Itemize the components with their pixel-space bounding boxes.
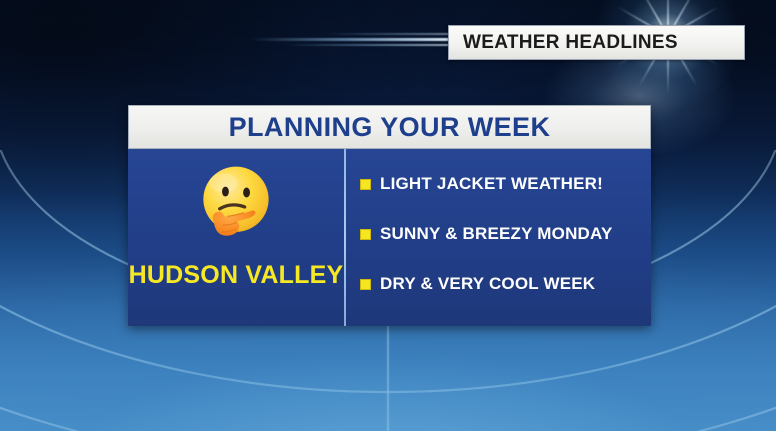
bullet-square-icon	[360, 229, 371, 240]
headline-bullet-list: LIGHT JACKET WEATHER! SUNNY & BREEZY MON…	[360, 173, 645, 295]
bullet-square-icon	[360, 179, 371, 190]
panel-right-column: LIGHT JACKET WEATHER! SUNNY & BREEZY MON…	[346, 149, 651, 326]
panel-body: HUDSON VALLEY LIGHT JACKET WEATHER! SUNN…	[128, 149, 651, 326]
panel-title: PLANNING YOUR WEEK	[229, 112, 551, 143]
list-item: DRY & VERY COOL WEEK	[360, 273, 645, 295]
panel-header: PLANNING YOUR WEEK	[128, 105, 651, 149]
weather-headlines-bar: WEATHER HEADLINES	[448, 25, 745, 60]
light-streak-secondary-icon	[285, 44, 465, 46]
planning-panel: PLANNING YOUR WEEK	[128, 105, 651, 326]
bullet-text: SUNNY & BREEZY MONDAY	[380, 224, 613, 244]
list-item: SUNNY & BREEZY MONDAY	[360, 223, 645, 245]
broadcast-weather-graphic: WEATHER HEADLINES PLANNING YOUR WEEK	[0, 0, 776, 431]
weather-headlines-label: WEATHER HEADLINES	[463, 32, 678, 54]
panel-left-column: HUDSON VALLEY	[128, 149, 344, 326]
thinking-face-emoji	[188, 157, 284, 253]
bullet-text: DRY & VERY COOL WEEK	[380, 274, 595, 294]
list-item: LIGHT JACKET WEATHER!	[360, 173, 645, 195]
bullet-text: LIGHT JACKET WEATHER!	[380, 174, 603, 194]
light-streak-icon	[250, 38, 465, 41]
location-label: HUDSON VALLEY	[128, 261, 344, 290]
bullet-square-icon	[360, 279, 371, 290]
light-streak-tertiary-icon	[325, 33, 465, 35]
